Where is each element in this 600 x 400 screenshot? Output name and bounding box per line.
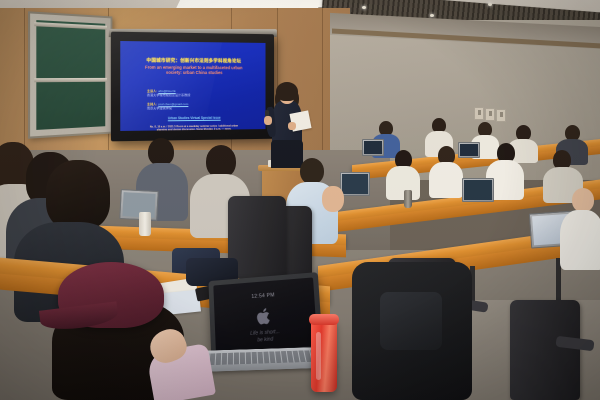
laptop-screen [342,174,368,194]
wall-outlet-plate [474,107,484,120]
ceiling-downlight [362,6,366,9]
slide-center-link: Urban Studies Virtual Special Issue [120,115,265,120]
presenter-left-hand [264,116,272,125]
slide-title-english: From an emerging market to a multifacete… [126,65,259,76]
red-bottle-cap [309,314,339,325]
macbook-screen: 12:54 PM Life is short... be kind [213,277,317,351]
macbook-keyboard[interactable] [203,350,324,365]
screensaver-line2: be kind [257,336,273,343]
backpack-front-pocket [380,292,442,350]
wall-outlet-plate [496,109,506,122]
slide-title-english-line2: society: urban China studies [166,70,223,75]
apple-logo-icon [255,306,273,326]
audience-head [148,138,174,166]
laptop-screen [460,144,478,156]
thermos-bottle [139,212,151,236]
slide-footnote-line2: planning and design discussion. Some Mon… [129,127,258,131]
laptop-screen [464,180,492,200]
laptop [362,139,384,156]
audience-hand [322,186,344,212]
office-chair [510,300,580,400]
audience-torso [429,162,463,198]
chalkboard-surface [36,20,105,130]
audience-torso [386,166,420,200]
macbook-screensaver-text: Life is short... be kind [215,327,317,347]
macbook-lock-time: 12:54 PM [214,289,314,303]
laptop [340,172,370,196]
chalkboard [28,11,112,138]
audience-torso [560,210,600,270]
thermos-bottle [404,190,412,208]
audience-head [572,188,594,212]
laptop [458,142,480,158]
classroom-photograph: 中国城市研究：创新兴市法则多学科视角论坛 From an emerging ma… [0,0,600,400]
laptop [462,178,494,202]
slide-title-chinese: 中国城市研究：创新兴市法则多学科视角论坛 [120,57,265,64]
presentation-display: 中国城市研究：创新兴市法则多学科视角论坛 From an emerging ma… [111,32,274,142]
slide-contact-1-sub: 香港大学城市规划及设计系教授 [147,93,190,97]
ceiling-downlight [430,14,434,17]
macbook-laptop[interactable]: 12:54 PM Life is short... be kind [208,272,323,357]
chalkboard-rail-middle [34,78,107,82]
audience-head [300,158,324,184]
laptop-screen [364,141,382,154]
bottle-highlight [316,332,321,380]
presenter-skirt [271,140,303,168]
screensaver-line1: Life is short... [250,329,280,337]
ceiling-downlight [488,3,492,6]
wall-outlet-plate [485,108,495,121]
slide-contact-2-sub: 南京大学建筑学院 [147,106,172,110]
red-water-bottle [311,320,337,392]
slide-screen: 中国城市研究：创新兴市法则多学科视角论坛 From an emerging ma… [120,41,265,131]
presenter-right-hand [288,122,296,130]
audience-head [46,160,110,230]
presenter-hair [276,82,298,101]
